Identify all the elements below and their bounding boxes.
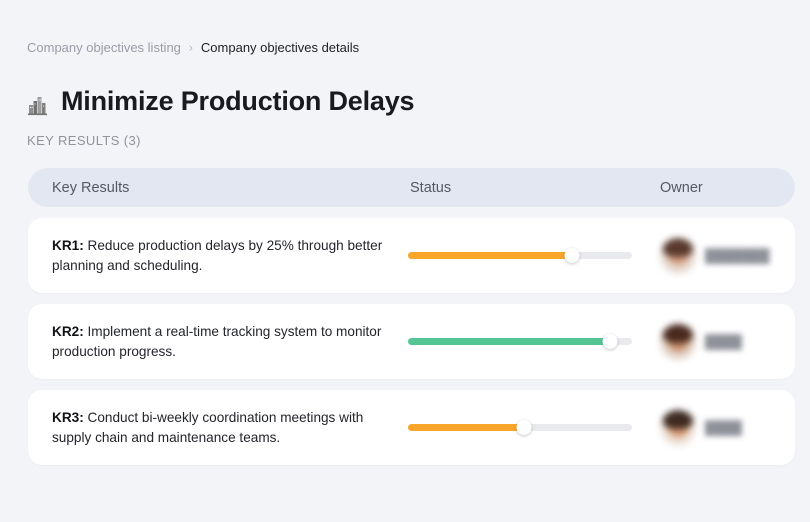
owner-cell: ███████ [660, 238, 795, 274]
progress-slider[interactable] [408, 332, 632, 352]
cityscape-buildings-icon [25, 86, 51, 116]
owner-cell: ████ [660, 410, 795, 446]
table-row[interactable]: KR3: Conduct bi-weekly coordination meet… [28, 390, 795, 465]
status-cell [408, 418, 660, 438]
breadcrumb-link-listing[interactable]: Company objectives listing [27, 40, 181, 56]
avatar [660, 324, 696, 360]
progress-thumb[interactable] [517, 420, 532, 435]
progress-fill [408, 338, 610, 345]
progress-fill [408, 252, 572, 259]
owner-name: ████ [705, 420, 742, 435]
progress-slider[interactable] [408, 246, 632, 266]
key-result-description: KR3: Conduct bi-weekly coordination meet… [28, 408, 408, 448]
key-results-count-label: KEY RESULTS (3) [27, 133, 141, 148]
progress-thumb[interactable] [602, 334, 617, 349]
objective-details-page: Company objectives listing › Company obj… [0, 0, 810, 522]
table-header-row: Key Results Status Owner [28, 168, 795, 207]
key-result-label: KR2: [52, 324, 84, 339]
key-result-description: KR1: Reduce production delays by 25% thr… [28, 236, 408, 276]
breadcrumb-current-details: Company objectives details [201, 40, 359, 56]
owner-cell: ████ [660, 324, 795, 360]
progress-thumb[interactable] [564, 248, 579, 263]
status-cell [408, 332, 660, 352]
page-title-row: Minimize Production Delays [25, 66, 414, 136]
chevron-right-icon: › [189, 40, 193, 56]
page-title: Minimize Production Delays [61, 84, 414, 118]
avatar [660, 410, 696, 446]
key-result-description: KR2: Implement a real-time tracking syst… [28, 322, 408, 362]
owner-name: ███████ [705, 248, 769, 263]
key-result-text: Implement a real-time tracking system to… [52, 324, 381, 359]
key-result-text: Conduct bi-weekly coordination meetings … [52, 410, 363, 445]
status-cell [408, 246, 660, 266]
column-header-owner: Owner [660, 180, 795, 196]
progress-slider[interactable] [408, 418, 632, 438]
table-row[interactable]: KR2: Implement a real-time tracking syst… [28, 304, 795, 379]
progress-fill [408, 424, 524, 431]
table-row[interactable]: KR1: Reduce production delays by 25% thr… [28, 218, 795, 293]
key-result-label: KR1: [52, 238, 84, 253]
owner-name: ████ [705, 334, 742, 349]
avatar [660, 238, 696, 274]
column-header-key-results: Key Results [28, 180, 408, 196]
column-header-status: Status [408, 180, 660, 196]
breadcrumb: Company objectives listing › Company obj… [27, 40, 359, 56]
key-result-label: KR3: [52, 410, 84, 425]
key-result-text: Reduce production delays by 25% through … [52, 238, 382, 273]
key-results-table: Key Results Status Owner KR1: Reduce pro… [28, 168, 795, 465]
